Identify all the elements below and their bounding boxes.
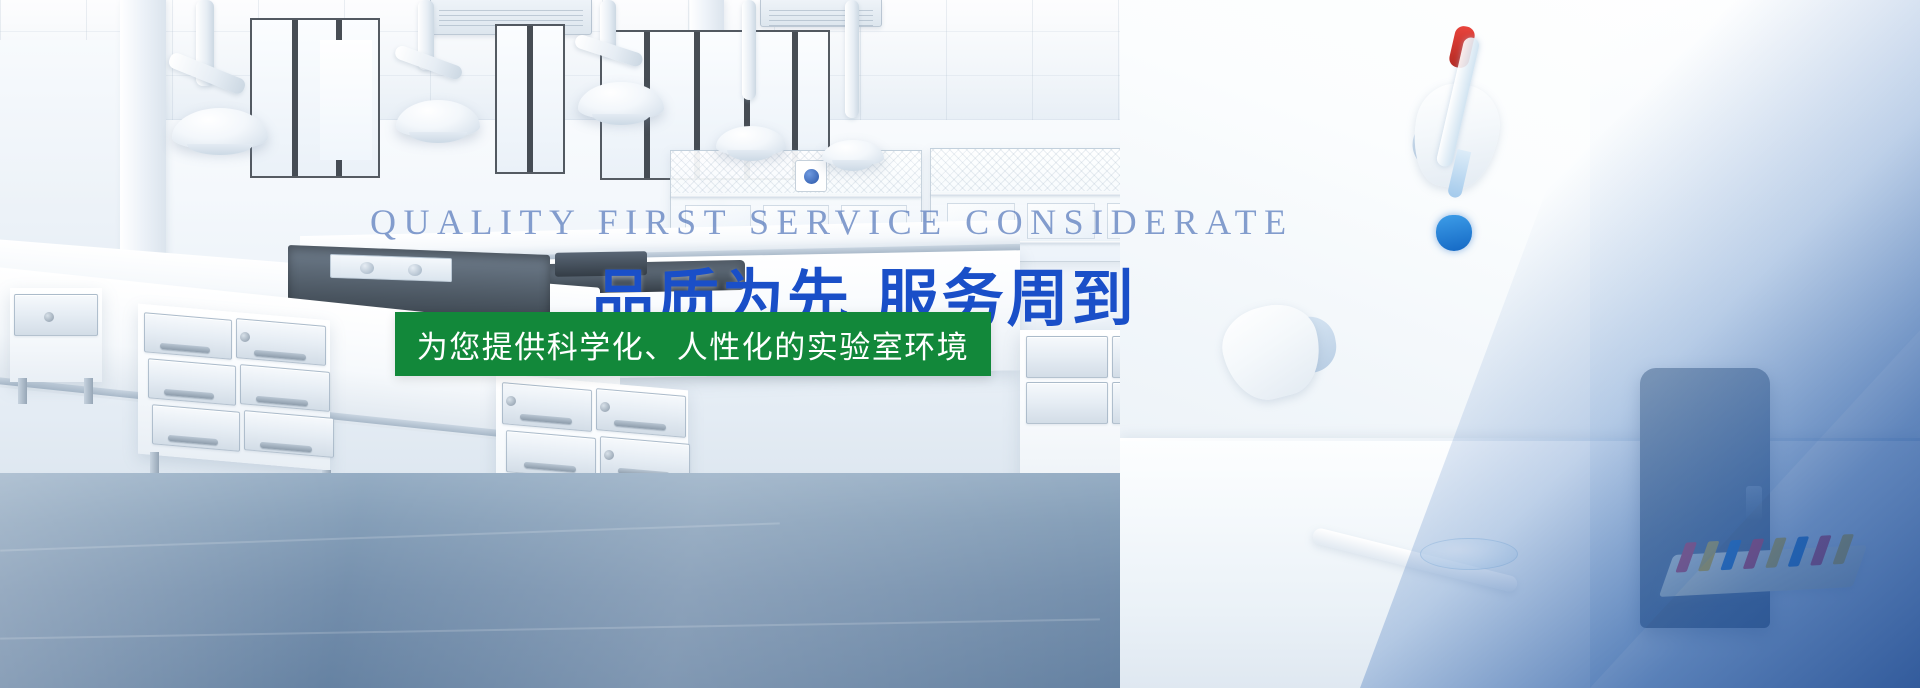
- safety-sticker: [795, 160, 827, 192]
- cabinet-lock: [600, 402, 610, 412]
- bench-knob: [408, 264, 422, 276]
- scientist-scene: [1120, 0, 1920, 688]
- blue-reagent-drop: [1436, 215, 1472, 251]
- cabinet-leg: [18, 378, 27, 404]
- window: [495, 24, 565, 174]
- cabinet-leg: [84, 378, 93, 404]
- cabinet-drawer: [240, 364, 330, 412]
- cabinet-drawer: [1026, 382, 1108, 424]
- subline-chinese: 为您提供科学化、人性化的实验室环境: [417, 322, 970, 367]
- cabinet-drawer: [152, 404, 240, 452]
- cabinet-drawer: [244, 410, 334, 458]
- tagline-english: QUALITY FIRST SERVICE CONSIDERATE: [370, 201, 1294, 243]
- cabinet-drawer: [14, 294, 98, 336]
- extractor-arm: [845, 0, 859, 118]
- cabinet-lock: [506, 396, 516, 406]
- glove-lower: [1214, 296, 1329, 408]
- hero-banner: QUALITY FIRST SERVICE CONSIDERATE 品质为先 服…: [0, 0, 1920, 688]
- cabinet-lock: [240, 332, 250, 342]
- cabinet-lock: [604, 450, 614, 460]
- cabinet-drawer: [144, 312, 232, 360]
- bench-knob: [360, 262, 374, 274]
- window-glare: [320, 40, 372, 160]
- cabinet-drawer: [148, 358, 236, 406]
- bench-fixture: [330, 254, 452, 282]
- floor-reflection: [0, 473, 1180, 688]
- cabinet-drawer: [236, 318, 326, 366]
- extractor-arm: [742, 0, 756, 100]
- cabinet-drawer: [596, 388, 686, 438]
- cabinet-drawer: [502, 382, 592, 432]
- cabinet-drawer: [1026, 336, 1108, 378]
- cabinet-lock: [44, 312, 54, 322]
- subline-green-bar: 为您提供科学化、人性化的实验室环境: [395, 312, 991, 376]
- ceiling-ac-unit: [760, 0, 882, 27]
